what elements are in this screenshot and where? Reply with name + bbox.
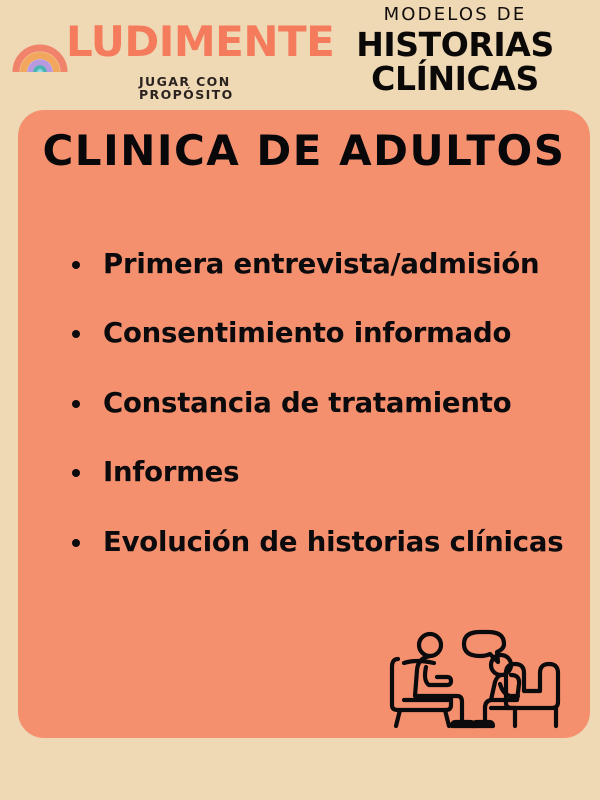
rainbow-icon bbox=[12, 22, 68, 72]
header: LUDIMENTE JUGAR CON PROPÓSITO MODELOS DE… bbox=[0, 0, 600, 110]
list-item-label: Informes bbox=[103, 456, 239, 488]
list-item-label: Evolución de historias clínicas bbox=[103, 526, 563, 558]
header-title-line-1: HISTORIAS bbox=[320, 28, 590, 62]
header-heading-group: MODELOS DE HISTORIAS CLÍNICAS bbox=[320, 6, 590, 95]
document-type-list: Primera entrevista/admisión Consentimien… bbox=[66, 248, 576, 595]
card-title: CLINICA DE ADULTOS bbox=[18, 124, 590, 178]
list-item-label: Constancia de tratamiento bbox=[103, 387, 511, 419]
list-item-label: Primera entrevista/admisión bbox=[103, 248, 539, 280]
list-item-label: Consentimiento informado bbox=[103, 317, 511, 349]
header-kicker: MODELOS DE bbox=[320, 6, 590, 24]
list-item: Evolución de historias clínicas bbox=[66, 526, 576, 558]
list-item: Informes bbox=[66, 456, 576, 488]
list-item: Constancia de tratamiento bbox=[66, 387, 576, 419]
brand-tagline: JUGAR CON PROPÓSITO bbox=[139, 76, 298, 101]
list-item: Consentimiento informado bbox=[66, 317, 576, 349]
brand-logo: LUDIMENTE JUGAR CON PROPÓSITO bbox=[8, 16, 298, 91]
header-title-line-2: CLÍNICAS bbox=[320, 62, 590, 96]
brand-wordmark: LUDIMENTE bbox=[66, 21, 334, 63]
therapy-session-icon bbox=[388, 612, 568, 730]
content-card: CLINICA DE ADULTOS Primera entrevista/ad… bbox=[18, 110, 590, 738]
list-item: Primera entrevista/admisión bbox=[66, 248, 576, 280]
